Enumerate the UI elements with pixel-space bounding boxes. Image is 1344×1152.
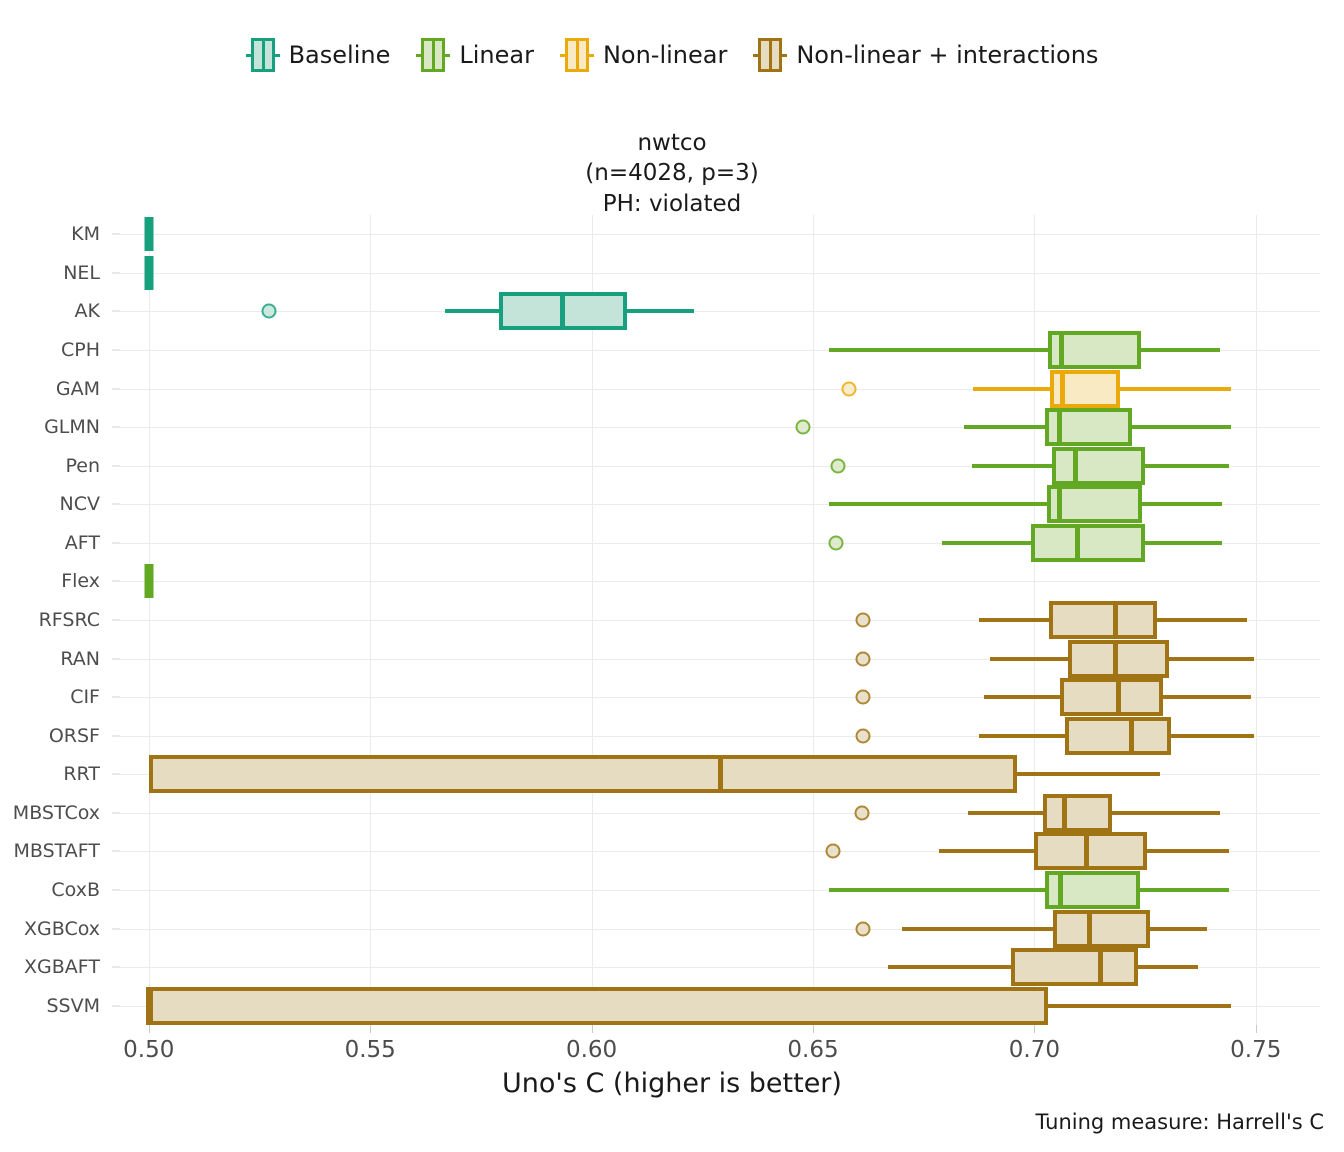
- boxplot-median-line: [1098, 948, 1103, 986]
- y-axis-tick-label-cif: CIF: [70, 686, 112, 708]
- y-axis-labels: KMNELAKCPHGAMGLMNPenNCVAFTFlexRFSRCRANCI…: [0, 215, 112, 1025]
- boxplot-median-line: [1060, 370, 1065, 408]
- y-axis-tick-mark: [112, 465, 120, 466]
- boxplot-whisker-high: [1145, 464, 1229, 468]
- boxplot-whisker-low: [968, 811, 1044, 815]
- boxplot-outlier-point: [854, 805, 869, 820]
- y-axis-tick-label-km: KM: [71, 223, 112, 245]
- x-axis-tick-mark: [813, 1025, 814, 1033]
- legend-key-icon: [753, 36, 787, 74]
- y-axis-tick-label-xgbaft: XGBAFT: [24, 956, 112, 978]
- legend-item-non-linear[interactable]: Non-linear: [560, 36, 727, 74]
- y-axis-tick-label-aft: AFT: [65, 532, 112, 554]
- legend-label: Baseline: [289, 41, 391, 69]
- y-axis-tick-label-mbstaft: MBSTAFT: [14, 840, 112, 862]
- boxplot-median-line: [1084, 832, 1089, 870]
- boxplot-degenerate-bar: [144, 217, 153, 251]
- boxplot-whisker-low: [979, 734, 1065, 738]
- x-axis-tick-mark: [1034, 1025, 1035, 1033]
- y-axis-tick-mark: [112, 735, 120, 736]
- boxplot-box: [1034, 832, 1146, 870]
- x-axis-tick-label: 0.65: [787, 1037, 838, 1063]
- boxplot-whisker-low: [829, 348, 1048, 352]
- y-axis-tick-label-ak: AK: [75, 300, 112, 322]
- boxplot-median-line: [1073, 447, 1078, 485]
- gridline-horizontal: [120, 311, 1320, 312]
- y-axis-tick-label-gam: GAM: [56, 378, 112, 400]
- y-axis-tick-label-coxb: CoxB: [51, 879, 112, 901]
- boxplot-median-line: [718, 755, 723, 793]
- boxplot-box: [1049, 601, 1157, 639]
- boxplot-whisker-low: [973, 387, 1050, 391]
- boxplot-whisker-high: [1140, 888, 1229, 892]
- y-axis-tick-mark: [112, 812, 120, 813]
- boxplot-outlier-point: [826, 844, 841, 859]
- boxplot-whisker-low: [829, 888, 1045, 892]
- chart-title: nwtco (n=4028, p=3) PH: violated: [0, 128, 1344, 219]
- boxplot-median-line: [1057, 408, 1062, 446]
- boxplot-median-line: [560, 292, 565, 330]
- boxplot-outlier-point: [856, 728, 871, 743]
- boxplot-outlier-point: [830, 458, 845, 473]
- boxplot-whisker-low: [964, 425, 1045, 429]
- y-axis-tick-mark: [112, 928, 120, 929]
- boxplot-outlier-point: [856, 651, 871, 666]
- boxplot-whisker-high: [627, 309, 694, 313]
- y-axis-tick-label-ran: RAN: [60, 648, 112, 670]
- boxplot-whisker-low: [984, 695, 1060, 699]
- boxplot-whisker-high: [1171, 734, 1255, 738]
- boxplot-outlier-point: [856, 613, 871, 628]
- legend-label: Linear: [459, 41, 534, 69]
- boxplot-box: [1011, 948, 1139, 986]
- boxplot-median-line: [1113, 601, 1118, 639]
- boxplot-whisker-high: [1132, 425, 1232, 429]
- y-axis-tick-mark: [112, 504, 120, 505]
- x-axis-tick-label: 0.50: [123, 1037, 174, 1063]
- boxplot-box: [1065, 717, 1170, 755]
- boxplot-outlier-point: [261, 304, 276, 319]
- boxplot-whisker-low: [445, 309, 498, 313]
- boxplot-median-line: [146, 987, 151, 1025]
- boxplot-whisker-high: [1145, 541, 1222, 545]
- boxplot-whisker-high: [1048, 1004, 1232, 1008]
- boxplot-whisker-low: [888, 965, 1011, 969]
- legend-key-icon: [560, 36, 594, 74]
- boxplot-box: [1031, 524, 1145, 562]
- boxplot-whisker-low: [972, 464, 1053, 468]
- y-axis-tick-mark: [112, 581, 120, 582]
- boxplot-whisker-high: [1142, 502, 1222, 506]
- gridline-horizontal: [120, 581, 1320, 582]
- boxplot-box: [149, 987, 1048, 1025]
- boxplot-median-line: [1129, 717, 1134, 755]
- y-axis-tick-label-ncv: NCV: [60, 493, 112, 515]
- plot-panel: [120, 215, 1320, 1025]
- boxplot-outlier-point: [856, 921, 871, 936]
- y-axis-tick-label-orsf: ORSF: [49, 725, 112, 747]
- y-axis-tick-mark: [112, 851, 120, 852]
- y-axis-tick-mark: [112, 388, 120, 389]
- y-axis-tick-label-pen: Pen: [65, 455, 112, 477]
- boxplot-median-line: [1057, 485, 1062, 523]
- x-axis-title: Uno's C (higher is better): [0, 1068, 1344, 1099]
- legend-item-baseline[interactable]: Baseline: [246, 36, 391, 74]
- y-axis-tick-mark: [112, 350, 120, 351]
- boxplot-whisker-high: [1147, 849, 1229, 853]
- boxplot-whisker-high: [1141, 348, 1221, 352]
- boxplot-degenerate-bar: [144, 564, 153, 598]
- legend: BaselineLinearNon-linearNon-linear + int…: [0, 24, 1344, 86]
- y-axis-tick-label-xgbcox: XGBCox: [24, 918, 112, 940]
- boxplot-box: [1060, 678, 1163, 716]
- boxplot-whisker-low: [829, 502, 1047, 506]
- figure-caption: Tuning measure: Harrell's C: [1036, 1110, 1324, 1134]
- legend-label: Non-linear: [603, 41, 727, 69]
- boxplot-outlier-point: [856, 690, 871, 705]
- x-axis-tick-label: 0.60: [566, 1037, 617, 1063]
- boxplot-outlier-point: [829, 535, 844, 550]
- y-axis-tick-mark: [112, 272, 120, 273]
- boxplot-whisker-low: [990, 657, 1068, 661]
- y-axis-tick-label-mbstcox: MBSTCox: [13, 802, 112, 824]
- x-axis-tick-label: 0.75: [1230, 1037, 1281, 1063]
- y-axis-tick-mark: [112, 234, 120, 235]
- title-line-size: (n=4028, p=3): [0, 158, 1344, 188]
- gridline-horizontal: [120, 234, 1320, 235]
- y-axis-tick-mark: [112, 697, 120, 698]
- boxplot-whisker-low: [902, 927, 1053, 931]
- legend-item-non-linear-interactions[interactable]: Non-linear + interactions: [753, 36, 1098, 74]
- x-axis-tick-mark: [370, 1025, 371, 1033]
- boxplot-whisker-low: [979, 618, 1049, 622]
- boxplot-whisker-low: [942, 541, 1031, 545]
- x-axis-tick-mark: [149, 1025, 150, 1033]
- title-line-dataset: nwtco: [0, 128, 1344, 158]
- gridline-horizontal: [120, 273, 1320, 274]
- boxplot-whisker-high: [1150, 927, 1208, 931]
- boxplot-whisker-high: [1163, 695, 1252, 699]
- y-axis-tick-mark: [112, 427, 120, 428]
- y-axis-tick-label-rfsrc: RFSRC: [39, 609, 112, 631]
- y-axis-tick-label-rrt: RRT: [63, 763, 112, 785]
- boxplot-outlier-point: [841, 381, 856, 396]
- x-axis-tick-mark: [592, 1025, 593, 1033]
- boxplot-box: [149, 755, 1017, 793]
- y-axis-tick-mark: [112, 542, 120, 543]
- x-axis-tick-label: 0.70: [1009, 1037, 1060, 1063]
- boxplot-box: [1043, 794, 1112, 832]
- x-axis-tick-mark: [1256, 1025, 1257, 1033]
- y-axis-tick-label-nel: NEL: [63, 262, 112, 284]
- y-axis-tick-mark: [112, 658, 120, 659]
- legend-key-icon: [416, 36, 450, 74]
- legend-item-linear[interactable]: Linear: [416, 36, 534, 74]
- boxplot-outlier-point: [796, 420, 811, 435]
- boxplot-figure: BaselineLinearNon-linearNon-linear + int…: [0, 0, 1344, 1152]
- y-axis-tick-mark: [112, 890, 120, 891]
- boxplot-whisker-high: [1112, 811, 1220, 815]
- boxplot-whisker-high: [1017, 772, 1160, 776]
- y-axis-tick-mark: [112, 774, 120, 775]
- boxplot-median-line: [1058, 871, 1063, 909]
- boxplot-whisker-low: [939, 849, 1034, 853]
- boxplot-median-line: [1075, 524, 1080, 562]
- boxplot-whisker-high: [1169, 657, 1254, 661]
- boxplot-median-line: [1087, 910, 1092, 948]
- y-axis-tick-mark: [112, 1005, 120, 1006]
- x-axis-tick-label: 0.55: [345, 1037, 396, 1063]
- legend-key-icon: [246, 36, 280, 74]
- y-axis-tick-label-ssvm: SSVM: [46, 995, 112, 1017]
- y-axis-tick-label-flex: Flex: [61, 570, 112, 592]
- boxplot-median-line: [1062, 794, 1067, 832]
- boxplot-whisker-high: [1120, 387, 1232, 391]
- boxplot-box: [1052, 447, 1145, 485]
- boxplot-median-line: [1113, 640, 1118, 678]
- boxplot-median-line: [1116, 678, 1121, 716]
- boxplot-median-line: [1059, 331, 1064, 369]
- y-axis-tick-mark: [112, 620, 120, 621]
- boxplot-box: [1053, 910, 1150, 948]
- y-axis-tick-label-cph: CPH: [61, 339, 112, 361]
- boxplot-whisker-high: [1138, 965, 1198, 969]
- y-axis-tick-mark: [112, 311, 120, 312]
- boxplot-whisker-high: [1157, 618, 1247, 622]
- y-axis-tick-mark: [112, 967, 120, 968]
- legend-label: Non-linear + interactions: [796, 41, 1098, 69]
- boxplot-degenerate-bar: [144, 256, 153, 290]
- y-axis-tick-label-glmn: GLMN: [44, 416, 112, 438]
